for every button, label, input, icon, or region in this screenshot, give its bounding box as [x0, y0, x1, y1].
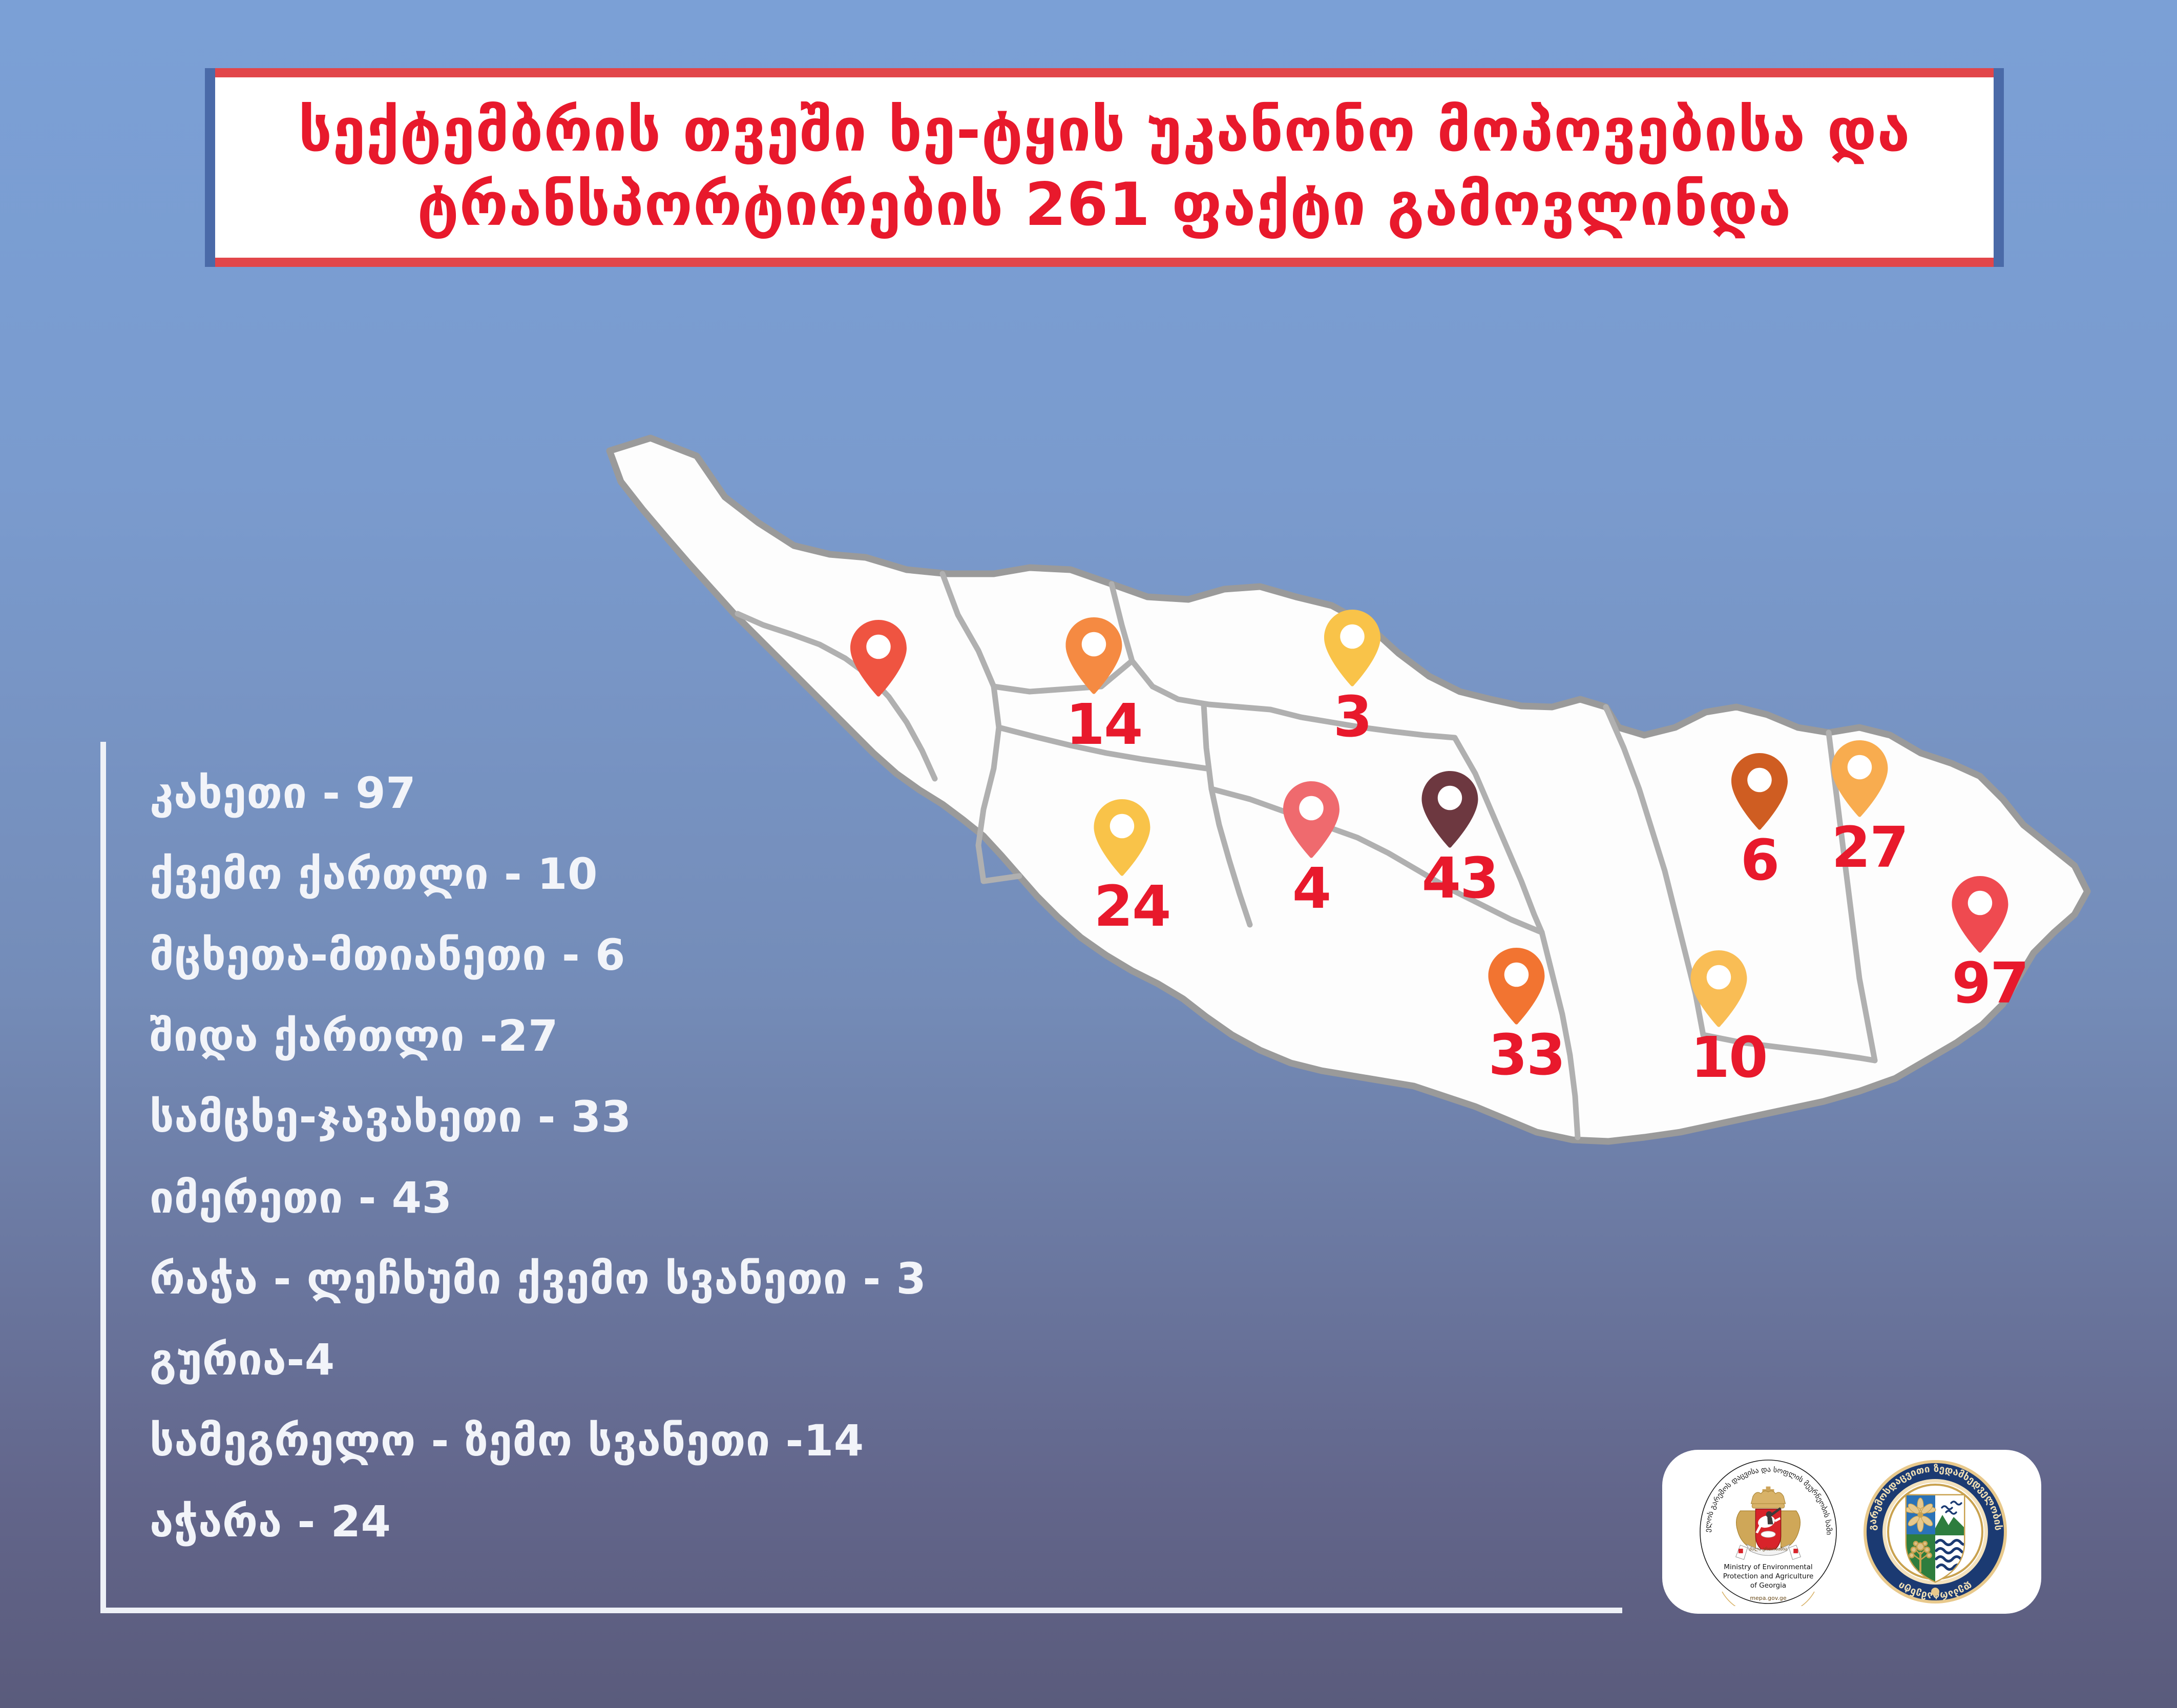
legend-item: სამეგრელო - ზემო სვანეთი -14 — [150, 1419, 1430, 1462]
department-emblem-svg: გარემოსდაცვითი ზედამხედველობის დეპარტამე… — [1858, 1457, 2012, 1606]
legend-item: კახეთი - 97 — [150, 772, 1430, 815]
legend-item: მცხეთა-მთიანეთი - 6 — [150, 933, 1430, 976]
map-pin-imereti[interactable]: 43 — [1421, 771, 1498, 906]
ministry-en-line-3: of Georgia — [1750, 1581, 1786, 1590]
ministry-en-line-2: Protection and Agriculture — [1723, 1572, 1814, 1580]
title-line-2: ტრანსპორტირების 261 ფაქტი გამოვლინდა — [417, 168, 1791, 242]
map-pin-icon — [850, 620, 907, 697]
map-pin-kvemo-kartli[interactable]: 10 — [1690, 950, 1767, 1086]
title-line-1: სექტემბრის თვეში ხე-ტყის უკანონო მოპოვებ… — [298, 93, 1910, 168]
map-pin-value: 10 — [1690, 1029, 1767, 1086]
map-pin-shida-kartli[interactable]: 27 — [1831, 740, 1908, 876]
map-pin-value: 3 — [1324, 689, 1380, 745]
legend-item: სამცხე-ჯავახეთი - 33 — [150, 1095, 1430, 1138]
legend-item: გურია-4 — [150, 1338, 1430, 1381]
ministry-emblem-svg: საქართველოს გარემოს დაცვისა და სოფლის მე… — [1691, 1457, 1845, 1606]
legend-list: კახეთი - 97ქვემო ქართლი - 10მცხეთა-მთიან… — [150, 772, 1430, 1581]
department-logo: გარემოსდაცვითი ზედამხედველობის დეპარტამე… — [1858, 1457, 2012, 1606]
map-pin-abkhazia[interactable] — [850, 620, 907, 697]
logo-card: საქართველოს გარემოს დაცვისა და სოფლის მე… — [1662, 1450, 2041, 1614]
legend-item: რაჭა - ლეჩხუმი ქვემო სვანეთი - 3 — [150, 1257, 1430, 1300]
map-pin-value: 43 — [1421, 850, 1498, 906]
map-pin-value: 33 — [1488, 1027, 1564, 1083]
map-pin-racha[interactable]: 3 — [1324, 610, 1380, 745]
map-pin-samegrelo[interactable]: 14 — [1065, 617, 1142, 753]
map-pin-value: 14 — [1065, 696, 1142, 753]
map-pin-icon — [1065, 617, 1142, 694]
ministry-logo: საქართველოს გარემოს დაცვისა და სოფლის მე… — [1691, 1457, 1845, 1606]
legend-item: ქვემო ქართლი - 10 — [150, 852, 1430, 895]
map-pin-value: 97 — [1952, 955, 2028, 1011]
map-pin-kakheti[interactable]: 97 — [1952, 876, 2028, 1011]
legend-item: იმერეთი - 43 — [150, 1176, 1430, 1219]
map-pin-icon — [1831, 740, 1908, 817]
map-pin-mtskheta[interactable]: 6 — [1731, 753, 1788, 888]
ministry-en-line-1: Ministry of Environmental — [1724, 1563, 1812, 1571]
map-pin-value: 27 — [1831, 819, 1908, 876]
map-pin-icon — [1952, 876, 2028, 953]
legend-item: შიდა ქართლი -27 — [150, 1014, 1430, 1057]
map-pin-icon — [1421, 771, 1498, 848]
title-banner: სექტემბრის თვეში ხე-ტყის უკანონო მოპოვებ… — [205, 68, 2004, 267]
map-pin-samtskhe[interactable]: 33 — [1488, 948, 1564, 1083]
map-pin-icon — [1690, 950, 1767, 1027]
ministry-url: mepa.gov.ge — [1750, 1595, 1787, 1601]
legend-item: აჭარა - 24 — [150, 1500, 1430, 1543]
map-pin-icon — [1731, 753, 1788, 830]
map-pin-icon — [1324, 610, 1380, 686]
ministry-motto: ძალა ერთობაშია — [1749, 1547, 1787, 1552]
map-pin-value: 6 — [1731, 832, 1788, 888]
map-pin-icon — [1488, 948, 1564, 1025]
